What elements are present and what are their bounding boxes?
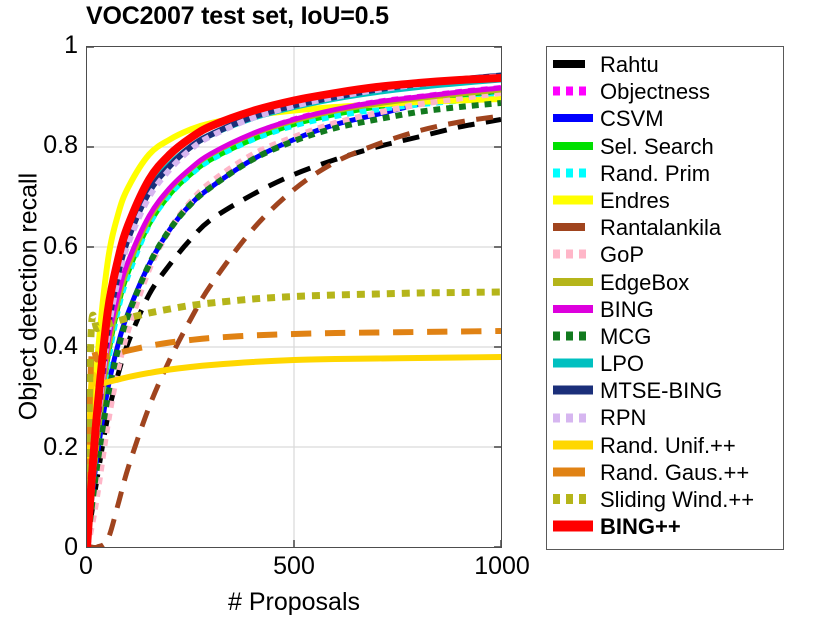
legend-label: Rantalankila [600, 214, 721, 241]
legend-label: Sel. Search [600, 133, 714, 160]
legend-swatch [553, 187, 593, 214]
legend-item[interactable]: Endres [553, 187, 783, 214]
legend-item[interactable]: Rand. Gaus.++ [553, 459, 783, 486]
legend-item[interactable]: EdgeBox [553, 269, 783, 296]
legend-swatch [553, 296, 593, 323]
chart-root: VOC2007 test set, IoU=0.5 00.20.40.60.81… [0, 0, 830, 623]
legend-item[interactable]: MTSE-BING [553, 377, 783, 404]
legend-label: Rand. Prim [600, 160, 710, 187]
legend-label: Rand. Gaus.++ [600, 459, 749, 486]
legend-swatch [553, 214, 593, 241]
legend-item[interactable]: MCG [553, 323, 783, 350]
legend-swatch [553, 377, 593, 404]
x-axis-label: # Proposals [86, 588, 502, 617]
legend-item[interactable]: Rand. Prim [553, 160, 783, 187]
legend-item[interactable]: CSVM [553, 105, 783, 132]
legend-swatch [553, 486, 593, 513]
legend-swatch [553, 241, 593, 268]
legend-item[interactable]: RPN [553, 404, 783, 431]
legend-item[interactable]: GoP [553, 241, 783, 268]
legend-label: MCG [600, 323, 651, 350]
legend-item[interactable]: Rantalankila [553, 214, 783, 241]
legend-swatch [553, 105, 593, 132]
legend-item[interactable]: BING++ [553, 513, 783, 540]
legend-label: LPO [600, 350, 644, 377]
plot-area [86, 46, 502, 548]
legend-label: MTSE-BING [600, 377, 722, 404]
legend-item[interactable]: BING [553, 296, 783, 323]
legend-swatch [553, 133, 593, 160]
legend-swatch [553, 350, 593, 377]
legend-swatch [553, 51, 593, 78]
legend-label: BING++ [600, 513, 681, 540]
x-tick-label: 1000 [442, 554, 562, 579]
legend-label: Endres [600, 187, 670, 214]
legend-item[interactable]: LPO [553, 350, 783, 377]
legend: RahtuObjectnessCSVMSel. SearchRand. Prim… [546, 46, 784, 550]
legend-item[interactable]: Objectness [553, 78, 783, 105]
legend-label: EdgeBox [600, 269, 689, 296]
chart-title: VOC2007 test set, IoU=0.5 [86, 2, 506, 31]
x-tick-label: 500 [234, 554, 354, 579]
legend-swatch [553, 269, 593, 296]
legend-item[interactable]: Rand. Unif.++ [553, 432, 783, 459]
legend-swatch [553, 432, 593, 459]
y-axis-label: Object detection recall [15, 47, 44, 547]
legend-swatch [553, 323, 593, 350]
legend-label: Sliding Wind.++ [600, 486, 754, 513]
legend-swatch [553, 405, 593, 432]
legend-swatch [553, 459, 593, 486]
legend-label: Objectness [600, 78, 710, 105]
legend-item[interactable]: Sliding Wind.++ [553, 486, 783, 513]
legend-swatch [553, 160, 593, 187]
legend-swatch [553, 78, 593, 105]
legend-label: CSVM [600, 105, 664, 132]
legend-swatch [553, 513, 593, 540]
legend-item[interactable]: Rahtu [553, 51, 783, 78]
legend-label: GoP [600, 241, 644, 268]
legend-label: BING [600, 296, 654, 323]
legend-item[interactable]: Sel. Search [553, 133, 783, 160]
legend-label: Rand. Unif.++ [600, 432, 736, 459]
x-axis-ticks: 05001000 [86, 554, 502, 588]
legend-label: RPN [600, 404, 646, 431]
x-tick-label: 0 [26, 554, 146, 579]
plot-svg [87, 47, 501, 547]
legend-label: Rahtu [600, 51, 659, 78]
